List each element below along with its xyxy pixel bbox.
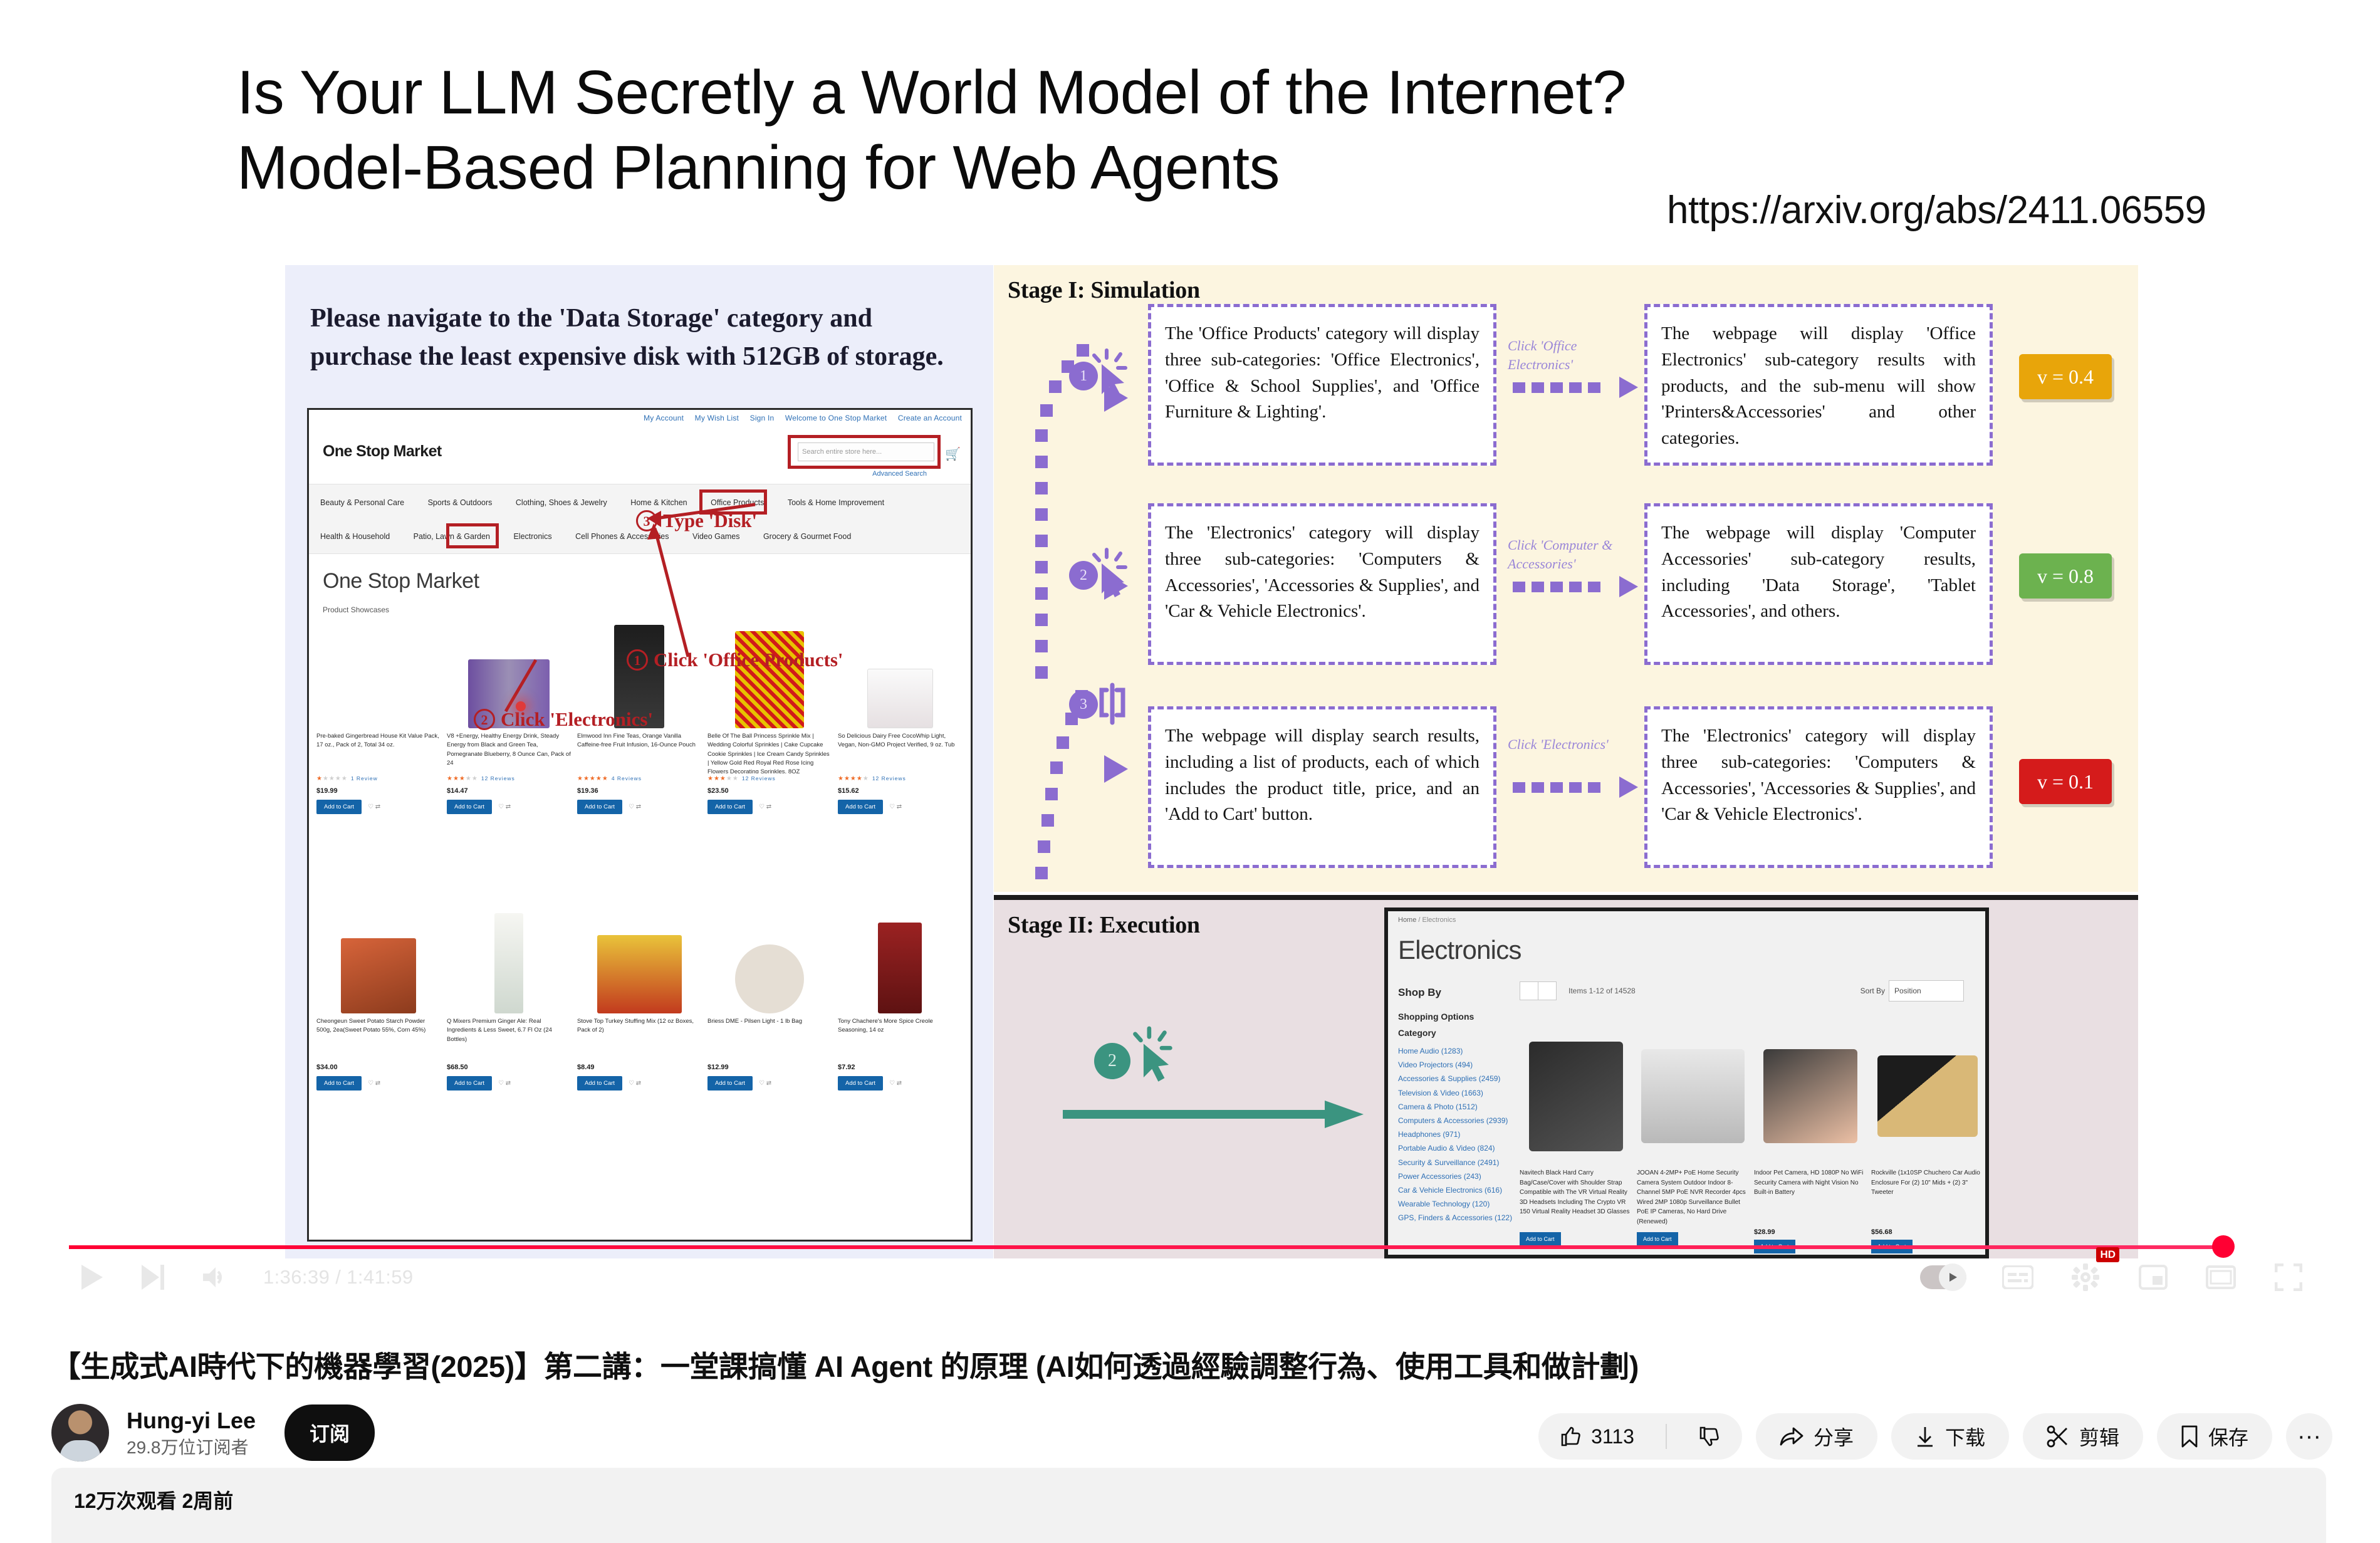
product-image	[707, 908, 832, 1013]
category-item: Computers & Accessories (2939)	[1398, 1114, 1517, 1127]
task-pane: Please navigate to the 'Data Storage' ca…	[285, 265, 993, 1258]
product-price: $12.99	[707, 1064, 832, 1071]
product-price: $23.50	[707, 787, 832, 795]
share-icon	[1780, 1426, 1803, 1447]
link-sign-in: Sign In	[750, 414, 775, 422]
product-card: Rockville (1x10SP Chuchero Car Audio Enc…	[1871, 1024, 1983, 1253]
download-button[interactable]: 下载	[1891, 1413, 2009, 1460]
advanced-search-link: Advanced Search	[872, 470, 927, 478]
share-label: 分享	[1814, 1422, 1854, 1451]
product-title: V8 +Energy, Healthy Energy Drink, Steady…	[447, 732, 571, 773]
category-item: Video Projectors (494)	[1398, 1058, 1517, 1072]
product-reviews: 12 Reviews	[872, 775, 906, 782]
miniplayer-button[interactable]	[2137, 1261, 2169, 1294]
annotation-click-marker	[516, 701, 526, 711]
branch-arrowhead	[1104, 384, 1128, 412]
simulation-row-1: 1 The 'Office Products' category will di…	[994, 304, 2138, 467]
nav-clothing: Clothing, Shoes & Jewelry	[516, 498, 607, 507]
progress-played	[69, 1245, 2226, 1249]
product-rating: ★★★★★1 Review	[316, 775, 441, 782]
view-count-and-date: 12万次观看 2周前	[74, 1485, 233, 1514]
category-item: Home Audio (1283)	[1398, 1044, 1517, 1058]
download-label: 下载	[1945, 1422, 1985, 1451]
channel-info: Hung-yi Lee 29.8万位订阅者	[127, 1406, 256, 1460]
product-card: Pre-baked Gingerbread House Kit Value Pa…	[316, 623, 441, 814]
product-reviews: 4 Reviews	[612, 775, 642, 782]
nav-electronics: Electronics	[513, 532, 551, 541]
product-title: Belle Of The Ball Princess Sprinkle Mix …	[707, 732, 832, 773]
simulation-row-3: 3 The webpage will display search result…	[994, 693, 2138, 855]
slide-title: Is Your LLM Secretly a World Model of th…	[237, 55, 2054, 205]
nav-health: Health & Household	[320, 532, 390, 541]
store-logo: One Stop Market	[323, 442, 442, 461]
simulated-action-label: Click 'Office Electronics'	[1508, 337, 1631, 374]
simulated-action-label: Click 'Computer & Accessories'	[1508, 536, 1631, 573]
category-item: GPS, Finders & Accessories (122)	[1398, 1211, 1517, 1225]
value-badge-3: v = 0.1	[2019, 759, 2112, 804]
search-highlight-box	[788, 435, 941, 469]
volume-button[interactable]	[198, 1261, 231, 1294]
like-button[interactable]: 3113	[1538, 1413, 1656, 1460]
shop-by-label: Shop By	[1398, 986, 1441, 999]
click-cursor-icon	[1128, 1023, 1184, 1083]
items-count: Items 1-12 of 14528	[1568, 986, 1636, 995]
wishlist-compare-icons: ♡ ⇄	[498, 803, 511, 810]
add-to-cart-button[interactable]: Add to Cart	[577, 1076, 622, 1091]
cart-icon: 🛒	[945, 446, 961, 462]
sort-by-label: Sort By	[1861, 986, 1885, 995]
product-price: $68.50	[447, 1064, 571, 1071]
category-label: Category	[1398, 1028, 1436, 1038]
product-title: Q Mixers Premium Ginger Ale: Real Ingred…	[447, 1017, 571, 1059]
sort-by-select: Position	[1889, 980, 1964, 1002]
category-item: Car & Vehicle Electronics (616)	[1398, 1183, 1517, 1197]
execution-product-grid: Navitech Black Hard Carry Bag/Case/Cover…	[1520, 1024, 1983, 1253]
product-rating: ★★★★★4 Reviews	[577, 775, 701, 782]
add-to-cart-button[interactable]: Add to Cart	[577, 800, 622, 814]
simulation-arrow	[1513, 779, 1638, 795]
product-image	[838, 623, 962, 728]
add-to-cart-button[interactable]: Add to Cart	[838, 1076, 883, 1091]
subscriber-count: 29.8万位订阅者	[127, 1436, 256, 1460]
link-my-account: My Account	[644, 414, 684, 422]
product-title: Indoor Pet Camera, HD 1080P No WiFi Secu…	[1754, 1168, 1866, 1225]
wishlist-compare-icons: ♡ ⇄	[629, 1080, 641, 1087]
product-title: Briess DME - Pilsen Light - 1 lb Bag	[707, 1017, 832, 1059]
welcome-text: Welcome to One Stop Market	[785, 414, 887, 422]
player-controls: 1:36:39 / 1:41:59	[0, 1251, 2380, 1304]
stage-2-execution: Stage II: Execution 2 Home / Electronics…	[994, 895, 2138, 1258]
avatar-shirt	[60, 1440, 100, 1462]
product-reviews: 12 Reviews	[742, 775, 776, 782]
wishlist-compare-icons: ♡ ⇄	[889, 1080, 902, 1087]
product-price: $7.92	[838, 1064, 962, 1071]
wishlist-compare-icons: ♡ ⇄	[498, 1080, 511, 1087]
store-nav-row-1: Beauty & Personal Care Sports & Outdoors…	[320, 498, 959, 507]
wishlist-compare-icons: ♡ ⇄	[889, 803, 902, 810]
product-card: So Delicious Dairy Free CocoWhip Light, …	[838, 623, 962, 814]
product-image	[1754, 1024, 1866, 1168]
save-button[interactable]: 保存	[2157, 1413, 2272, 1460]
thumbs-up-icon	[1560, 1425, 1582, 1448]
wishlist-compare-icons: ♡ ⇄	[759, 803, 771, 810]
breadcrumb-current: Electronics	[1422, 916, 1456, 924]
simulation-row-2: 2 The 'Electronics' category will displa…	[994, 503, 2138, 666]
settings-button[interactable]: HD	[2069, 1261, 2102, 1294]
product-card: Tony Chachere's More Spice Creole Season…	[838, 908, 962, 1091]
link-create-account: Create an Account	[898, 414, 962, 422]
annotation-click-office-products: 1Click 'Office Products'	[627, 649, 843, 671]
product-card: Indoor Pet Camera, HD 1080P No WiFi Secu…	[1754, 1024, 1866, 1253]
product-title: Tony Chachere's More Spice Creole Season…	[838, 1017, 962, 1059]
like-count: 3113	[1591, 1425, 1634, 1448]
product-title: Rockville (1x10SP Chuchero Car Audio Enc…	[1871, 1168, 1983, 1225]
simulated-state-box: The webpage will display search results,…	[1148, 706, 1496, 868]
nav-beauty: Beauty & Personal Care	[320, 498, 404, 507]
slide-title-line1: Is Your LLM Secretly a World Model of th…	[237, 55, 2054, 130]
product-title: So Delicious Dairy Free CocoWhip Light, …	[838, 732, 962, 773]
product-price: $34.00	[316, 1064, 441, 1071]
category-item: Wearable Technology (120)	[1398, 1197, 1517, 1211]
breadcrumb-home: Home	[1398, 916, 1416, 924]
product-image	[838, 908, 962, 1013]
link-wish-list: My Wish List	[695, 414, 739, 422]
nav-sports: Sports & Outdoors	[428, 498, 493, 507]
browser-top-links: My Account My Wish List Sign In Welcome …	[635, 414, 962, 422]
wishlist-compare-icons: ♡ ⇄	[368, 1080, 380, 1087]
product-image	[316, 623, 441, 728]
arxiv-link: https://arxiv.org/abs/2411.06559	[1667, 188, 2206, 233]
store-nav-row-2: Health & Household Patio, Lawn & Garden …	[320, 532, 959, 541]
task-prompt: Please navigate to the 'Data Storage' ca…	[310, 300, 965, 376]
product-price: $28.99	[1754, 1228, 1866, 1236]
product-price: $56.68	[1871, 1228, 1983, 1236]
product-rating: ★★★★★12 Reviews	[707, 775, 832, 782]
dislike-button[interactable]	[1677, 1413, 1742, 1460]
breadcrumb-separator: /	[1418, 916, 1420, 924]
time-display: 1:36:39 / 1:41:59	[263, 1266, 414, 1289]
product-price: $8.49	[577, 1064, 701, 1071]
simulated-result-box: The webpage will display 'Office Electro…	[1644, 304, 1993, 466]
nav-tools: Tools & Home Improvement	[788, 498, 884, 507]
video-title: 【生成式AI時代下的機器學習(2025)】第二講：一堂課搞懂 AI Agent …	[51, 1342, 2307, 1386]
execution-browser-screenshot: Home / Electronics Electronics Shop By I…	[1384, 907, 1989, 1258]
nav-cell-phones: Cell Phones & Accessories	[575, 532, 669, 541]
value-badge-1: v = 0.4	[2019, 354, 2112, 399]
keyboard-type-icon	[1088, 676, 1138, 730]
product-image	[316, 908, 441, 1013]
category-item: Accessories & Supplies (2459)	[1398, 1072, 1517, 1085]
category-filter-list: Home Audio (1283) Video Projectors (494)…	[1398, 1044, 1517, 1225]
product-image	[447, 908, 571, 1013]
product-card: Q Mixers Premium Ginger Ale: Real Ingred…	[447, 908, 571, 1091]
clip-button[interactable]: 剪辑	[2023, 1413, 2143, 1460]
product-card: Stove Top Turkey Stuffing Mix (12 oz Box…	[577, 908, 701, 1091]
save-label: 保存	[2208, 1422, 2248, 1451]
video-metadata-section: 【生成式AI時代下的機器學習(2025)】第二講：一堂課搞懂 AI Agent …	[0, 1304, 2380, 1488]
product-reviews: 12 Reviews	[481, 775, 515, 782]
channel-name[interactable]: Hung-yi Lee	[127, 1406, 256, 1436]
product-price: $19.36	[577, 787, 701, 795]
autoplay-knob	[1939, 1263, 1966, 1291]
product-title: Elmwood Inn Fine Teas, Orange Vanilla Ca…	[577, 732, 701, 773]
download-icon	[1915, 1426, 1935, 1447]
category-item: Portable Audio & Video (824)	[1398, 1141, 1517, 1155]
slide-content: Is Your LLM Secretly a World Model of th…	[0, 0, 2380, 1304]
product-title: Navitech Black Hard Carry Bag/Case/Cover…	[1520, 1168, 1632, 1225]
product-grid-row-2: Cheongeun Sweet Potato Starch Powder 500…	[316, 908, 968, 1091]
fullscreen-button[interactable]	[2272, 1261, 2305, 1294]
product-rating: ★★★★★12 Reviews	[447, 775, 571, 782]
product-card: Briess DME - Pilsen Light - 1 lb Bag $12…	[707, 908, 832, 1091]
simulation-arrow	[1513, 379, 1638, 395]
add-to-cart-button[interactable]: Add to Cart	[447, 1076, 492, 1091]
simulated-result-box: The 'Electronics' category will display …	[1644, 706, 1993, 868]
simulation-arrow	[1513, 578, 1638, 595]
product-price: $19.99	[316, 787, 441, 795]
value-badge-2: v = 0.8	[2019, 553, 2112, 599]
more-actions-button[interactable]: ···	[2286, 1413, 2332, 1460]
autoplay-toggle[interactable]	[1920, 1265, 1966, 1289]
stage-1-simulation: Stage I: Simulation 1	[994, 265, 2138, 892]
product-reviews: 1 Review	[351, 775, 378, 782]
add-to-cart-button[interactable]: Add to Cart	[447, 800, 492, 814]
product-card: JOOAN 4-2MP+ PoE Home Security Camera Sy…	[1637, 1024, 1749, 1253]
video-progress-bar[interactable]	[0, 1243, 2380, 1251]
category-item: Camera & Photo (1512)	[1398, 1100, 1517, 1114]
category-heading: Electronics	[1398, 935, 1521, 965]
store-heading: One Stop Market	[323, 569, 479, 594]
stage-2-label: Stage II: Execution	[1008, 911, 1200, 939]
add-to-cart-button[interactable]: Add to Cart	[316, 1076, 362, 1091]
product-title: Cheongeun Sweet Potato Starch Powder 500…	[316, 1017, 441, 1059]
branch-arrowhead	[1104, 755, 1128, 783]
annotation-click-electronics: 2Click 'Electronics'	[474, 708, 653, 731]
like-dislike-group: 3113	[1538, 1413, 1742, 1460]
showcase-label: Product Showcases	[323, 605, 389, 614]
product-price: $15.62	[838, 787, 962, 795]
category-item: Power Accessories (243)	[1398, 1169, 1517, 1183]
product-image	[1871, 1024, 1983, 1168]
product-image	[1520, 1024, 1632, 1168]
scissors-icon	[2047, 1425, 2069, 1448]
simulated-state-box: The 'Office Products' category will disp…	[1148, 304, 1496, 466]
next-button[interactable]	[137, 1261, 169, 1294]
description-box[interactable]: 12万次观看 2周前	[51, 1468, 2326, 1543]
browser-screenshot: My Account My Wish List Sign In Welcome …	[307, 408, 973, 1242]
product-image	[577, 908, 701, 1013]
play-button[interactable]	[75, 1261, 108, 1294]
product-title: JOOAN 4-2MP+ PoE Home Security Camera Sy…	[1637, 1168, 1749, 1225]
share-button[interactable]: 分享	[1756, 1413, 1877, 1460]
quality-badge: HD	[2096, 1247, 2119, 1262]
nav-grocery: Grocery & Gourmet Food	[763, 532, 851, 541]
simulated-state-box: The 'Electronics' category will display …	[1148, 503, 1496, 665]
action-buttons-row: 3113 分享 下载	[1538, 1413, 2332, 1460]
branch-arrowhead	[1104, 572, 1128, 600]
video-player[interactable]: Is Your LLM Secretly a World Model of th…	[0, 0, 2380, 1304]
category-item: Headphones (971)	[1398, 1127, 1517, 1141]
breadcrumb: Home / Electronics	[1398, 916, 1456, 924]
bookmark-icon	[2181, 1425, 2198, 1448]
thumbs-down-icon	[1698, 1425, 1721, 1448]
annotation-type-disk: 3Type 'Disk'	[636, 510, 757, 532]
category-item: Security & Surveillance (2491)	[1398, 1156, 1517, 1169]
electronics-highlight-box	[446, 523, 499, 548]
shopping-options-label: Shopping Options	[1398, 1012, 1474, 1022]
add-to-cart-button[interactable]: Add to Cart	[838, 800, 883, 814]
channel-row: Hung-yi Lee 29.8万位订阅者 订阅	[51, 1404, 375, 1462]
simulated-result-box: The webpage will display 'Computer Acces…	[1644, 503, 1993, 665]
nav-video-games: Video Games	[692, 532, 740, 541]
nav-home-kitchen: Home & Kitchen	[630, 498, 687, 507]
wishlist-compare-icons: ♡ ⇄	[629, 803, 641, 810]
category-item: Television & Video (1663)	[1398, 1086, 1517, 1100]
product-image	[707, 623, 832, 728]
channel-avatar[interactable]	[51, 1404, 109, 1462]
view-mode-toggle	[1520, 981, 1556, 1000]
execution-arrow	[1063, 1102, 1364, 1127]
add-to-cart-button[interactable]: Add to Cart	[316, 800, 362, 814]
clip-label: 剪辑	[2079, 1422, 2119, 1451]
product-price: $14.47	[447, 787, 571, 795]
wishlist-compare-icons: ♡ ⇄	[368, 803, 380, 810]
add-to-cart-button[interactable]: Add to Cart	[707, 800, 753, 814]
product-image	[1637, 1024, 1749, 1168]
product-title: Stove Top Turkey Stuffing Mix (12 oz Box…	[577, 1017, 701, 1059]
subtitles-button[interactable]	[2002, 1261, 2034, 1294]
product-card: Cheongeun Sweet Potato Starch Powder 500…	[316, 908, 441, 1091]
wishlist-compare-icons: ♡ ⇄	[759, 1080, 771, 1087]
theater-button[interactable]	[2205, 1261, 2237, 1294]
add-to-cart-button[interactable]: Add to Cart	[707, 1076, 753, 1091]
product-rating: ★★★★★12 Reviews	[838, 775, 962, 782]
execution-step-badge: 2	[1094, 1043, 1130, 1079]
like-divider	[1666, 1424, 1667, 1449]
product-card: Navitech Black Hard Carry Bag/Case/Cover…	[1520, 1024, 1632, 1253]
product-title: Pre-baked Gingerbread House Kit Value Pa…	[316, 732, 441, 773]
simulated-action-label: Click 'Electronics'	[1508, 735, 1631, 754]
subscribe-button[interactable]: 订阅	[284, 1404, 375, 1461]
